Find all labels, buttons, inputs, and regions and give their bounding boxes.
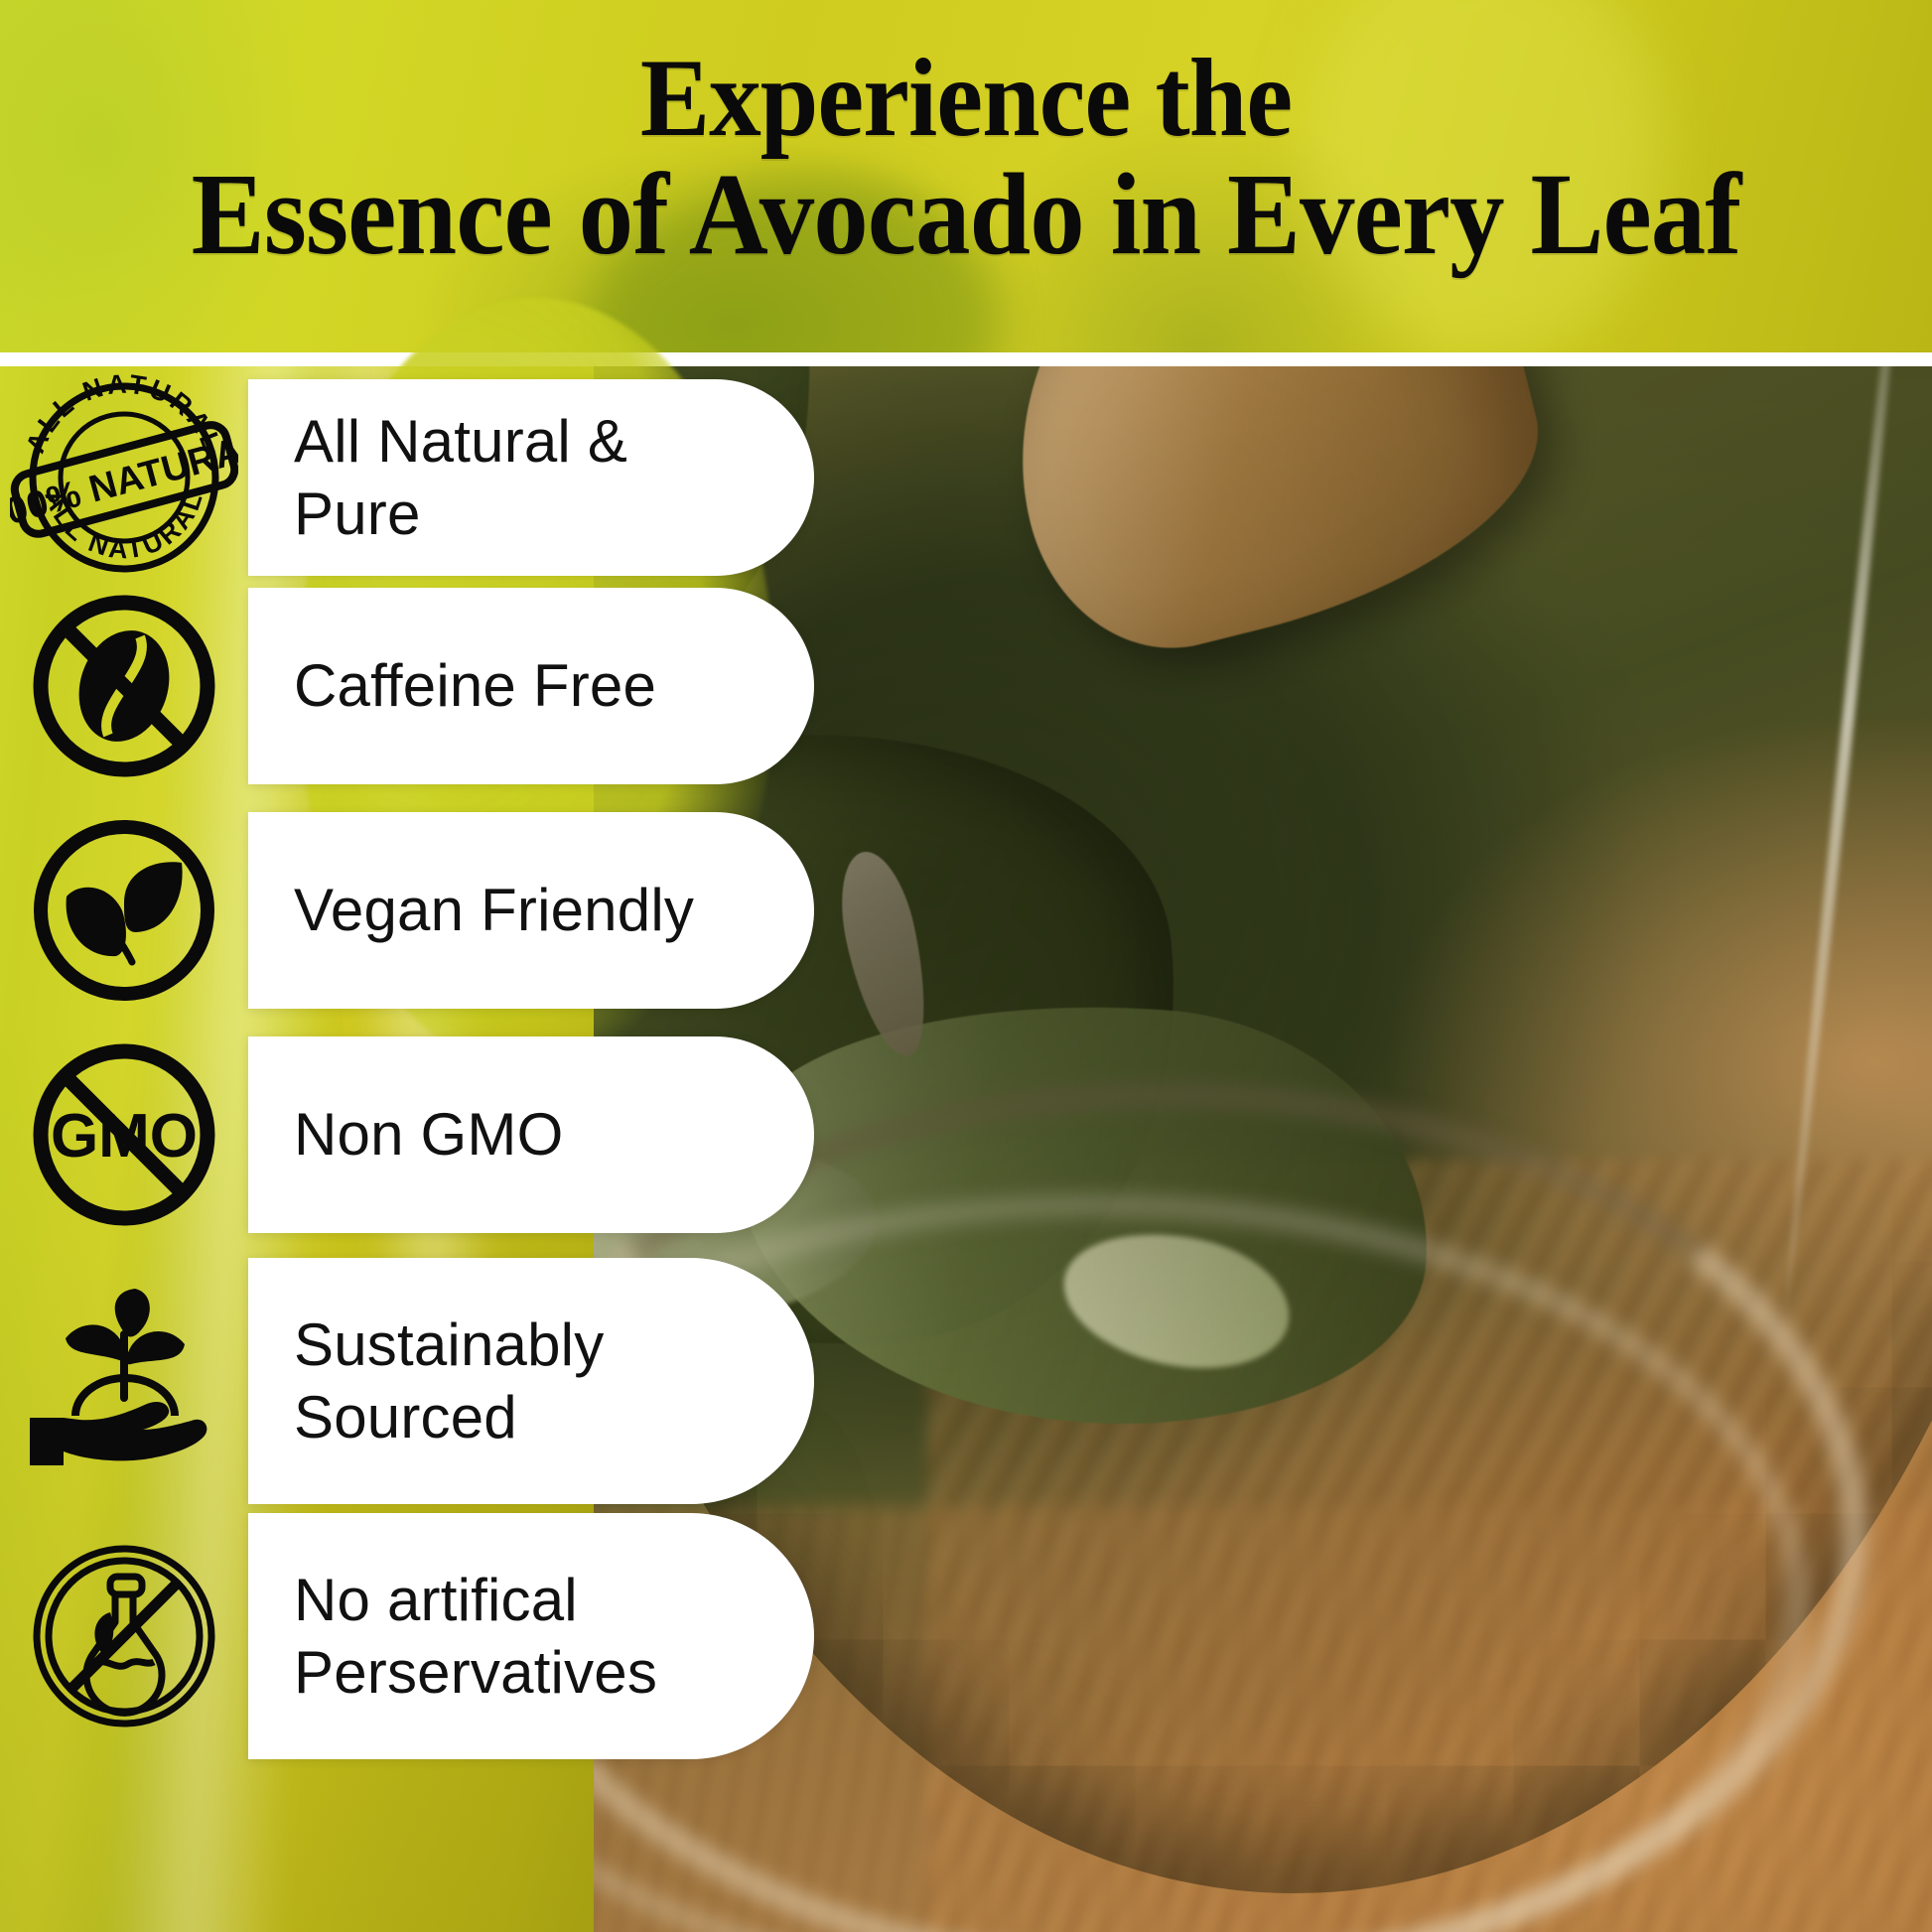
feature-row-vegan-friendly[interactable]: Vegan Friendly <box>0 811 814 1010</box>
feature-row-sustainably-sourced[interactable]: Sustainably Sourced <box>0 1258 814 1504</box>
feature-label: Vegan Friendly <box>294 874 694 946</box>
leaf-circle-icon <box>0 811 248 1010</box>
no-gmo-icon: GMO <box>0 1035 248 1234</box>
product-infographic-poster: Experience the Essence of Avocado in Eve… <box>0 0 1932 1932</box>
no-flask-icon <box>0 1537 248 1735</box>
header-banner: Experience the Essence of Avocado in Eve… <box>0 0 1932 352</box>
feature-pill[interactable]: Sustainably Sourced <box>248 1258 814 1504</box>
feature-row-all-natural[interactable]: ALL NATURAL ALL NATURAL 100% NATURAL All… <box>0 363 814 592</box>
feature-pill[interactable]: Non GMO <box>248 1036 814 1233</box>
hand-sprout-icon <box>0 1287 248 1475</box>
feature-row-caffeine-free[interactable]: Caffeine Free <box>0 587 814 785</box>
feature-pill[interactable]: All Natural & Pure <box>248 379 814 576</box>
feature-pill[interactable]: Caffeine Free <box>248 588 814 784</box>
page-title-line-2: Essence of Avocado in Every Leaf <box>82 155 1850 274</box>
feature-row-no-preservatives[interactable]: No artifical Perservatives <box>0 1513 814 1759</box>
all-natural-stamp-icon: ALL NATURAL ALL NATURAL 100% NATURAL <box>0 363 248 592</box>
no-coffee-bean-icon <box>0 587 248 785</box>
feature-label: Non GMO <box>294 1098 563 1171</box>
feature-pill[interactable]: Vegan Friendly <box>248 812 814 1009</box>
feature-label: Sustainably Sourced <box>294 1309 604 1453</box>
feature-label: Caffeine Free <box>294 649 656 722</box>
page-title-line-1: Experience the <box>640 37 1292 160</box>
feature-label: No artifical Perservatives <box>294 1564 657 1709</box>
feature-pill[interactable]: No artifical Perservatives <box>248 1513 814 1759</box>
feature-list: ALL NATURAL ALL NATURAL 100% NATURAL All… <box>0 366 1932 1932</box>
feature-label: All Natural & Pure <box>294 405 760 550</box>
feature-row-non-gmo[interactable]: GMO Non GMO <box>0 1035 814 1234</box>
page-title: Experience the Essence of Avocado in Eve… <box>58 0 1873 275</box>
